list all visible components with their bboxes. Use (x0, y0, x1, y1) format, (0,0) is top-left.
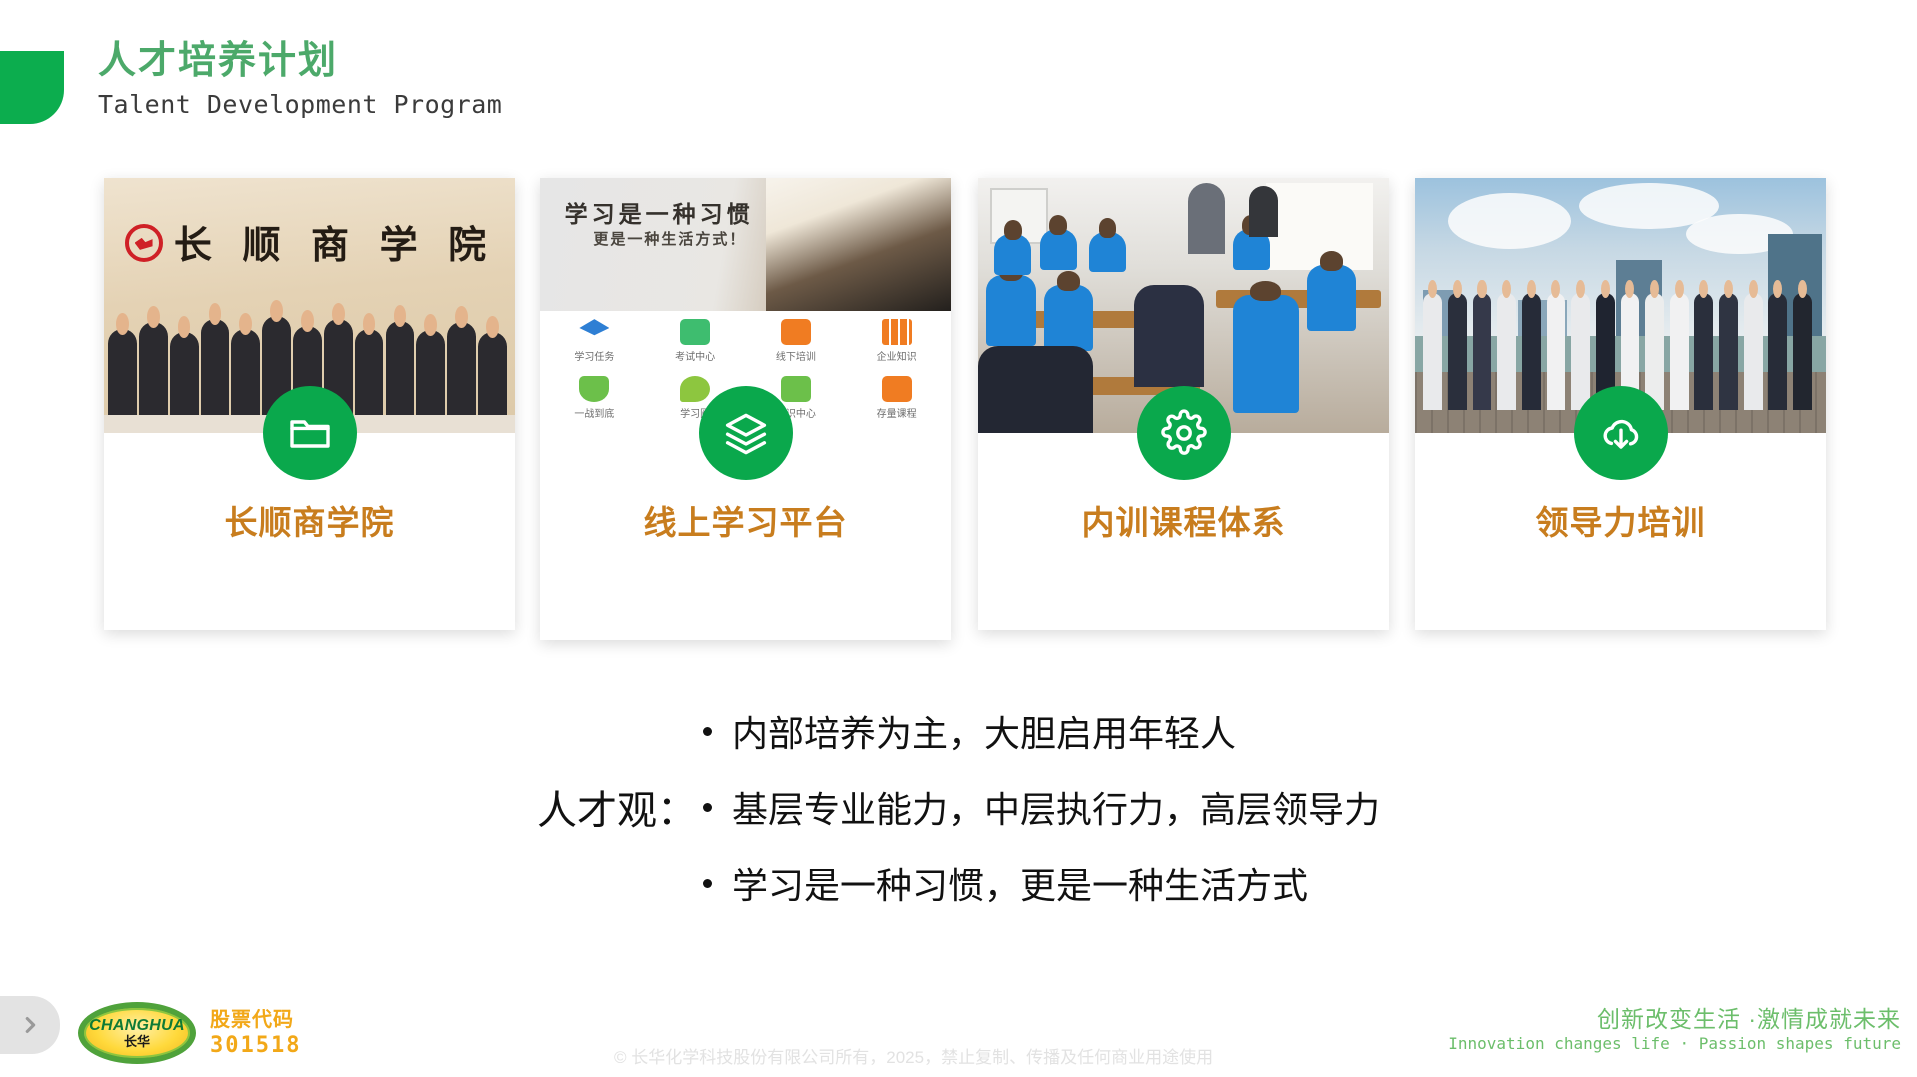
app-banner-line2: 更是一种生活方式！ (593, 228, 746, 249)
card-title-2: 线上学习平台 (540, 496, 951, 544)
card-internal-training[interactable]: 内训课程体系 (978, 178, 1389, 630)
page-title-en: Talent Development Program (98, 88, 502, 122)
logo-text-cn: 长华 (124, 1035, 150, 1049)
cloud-download-icon (1597, 409, 1645, 457)
list-item: 学习是一种习惯，更是一种生活方式 (703, 857, 1380, 909)
page-title: 人才培养计划 Talent Development Program (98, 38, 502, 122)
list-item: 基层专业能力，中层执行力，高层领导力 (703, 781, 1380, 833)
card-title-3: 内训课程体系 (978, 496, 1389, 544)
list-item: 内部培养为主，大胆启用年轻人 (703, 705, 1380, 757)
photo-wall-calligraphy: 长顺商学院 (174, 214, 486, 269)
card-business-school[interactable]: 长顺商学院 (104, 178, 515, 630)
app-tile[interactable]: 学习任务 (544, 319, 645, 376)
sidebar-expand-button[interactable] (0, 996, 60, 1054)
card-title-4: 领导力培训 (1415, 496, 1826, 544)
changhua-logo: CHANGHUA 长华 (78, 1002, 196, 1064)
chevron-right-icon (19, 1014, 41, 1036)
talent-view-label: 人才观： (537, 778, 697, 836)
company-logo-block: CHANGHUA 长华 股票代码 301518 (78, 1002, 301, 1064)
slide-root: 人才培养计划 Talent Development Program 长顺商学院 (0, 0, 1917, 1077)
card-badge-gear[interactable] (1137, 386, 1231, 480)
layers-icon (722, 409, 770, 457)
copyright-text: © 长华化学科技股份有限公司所有，2025，禁止复制、传播及任何商业用途使用 (614, 1043, 1213, 1068)
stock-code: 301518 (210, 1033, 301, 1059)
card-online-learning[interactable]: 学习是一种习惯 更是一种生活方式！ 学习任务 考试中心 (540, 178, 951, 640)
slogan-cn: 创新改变生活 ·激情成就未来 (1448, 1005, 1901, 1033)
card-title-1: 长顺商学院 (104, 496, 515, 544)
talent-view-section: 人才观： 内部培养为主，大胆启用年轻人 基层专业能力，中层执行力，高层领导力 学… (0, 705, 1917, 909)
folder-icon (286, 409, 334, 457)
card-badge-folder[interactable] (263, 386, 357, 480)
card-badge-layers[interactable] (699, 386, 793, 480)
app-tile[interactable]: 一战到底 (544, 376, 645, 433)
slogan-en: Innovation changes life · Passion shapes… (1448, 1033, 1901, 1055)
bullet-dot-icon (703, 727, 712, 736)
stock-info: 股票代码 301518 (210, 1008, 301, 1059)
app-tile[interactable]: 线下培训 (746, 319, 847, 376)
talent-bullet-list: 内部培养为主，大胆启用年轻人 基层专业能力，中层执行力，高层领导力 学习是一种习… (703, 705, 1380, 909)
list-item-text: 基层专业能力，中层执行力，高层领导力 (732, 781, 1380, 833)
app-tile[interactable]: 存量课程 (846, 376, 947, 433)
list-item-text: 学习是一种习惯，更是一种生活方式 (732, 857, 1308, 909)
card-leadership-training[interactable]: 领导力培训 (1415, 178, 1826, 630)
card-row: 长顺商学院 (0, 178, 1917, 648)
bullet-dot-icon (703, 879, 712, 888)
accent-tab (0, 51, 64, 124)
card-badge-cloud-download[interactable] (1574, 386, 1668, 480)
gear-icon (1160, 409, 1208, 457)
page-title-cn: 人才培养计划 (98, 38, 502, 84)
logo-text-en: CHANGHUA (89, 1018, 185, 1034)
stock-label: 股票代码 (210, 1008, 301, 1033)
bullet-dot-icon (703, 803, 712, 812)
list-item-text: 内部培养为主，大胆启用年轻人 (732, 705, 1236, 757)
app-tile[interactable]: 企业知识 (846, 319, 947, 376)
app-tile[interactable]: 考试中心 (645, 319, 746, 376)
photo-wall-logo-icon (125, 224, 163, 262)
company-slogan: 创新改变生活 ·激情成就未来 Innovation changes life ·… (1448, 1005, 1901, 1055)
app-banner-line1: 学习是一种习惯 (565, 195, 754, 229)
